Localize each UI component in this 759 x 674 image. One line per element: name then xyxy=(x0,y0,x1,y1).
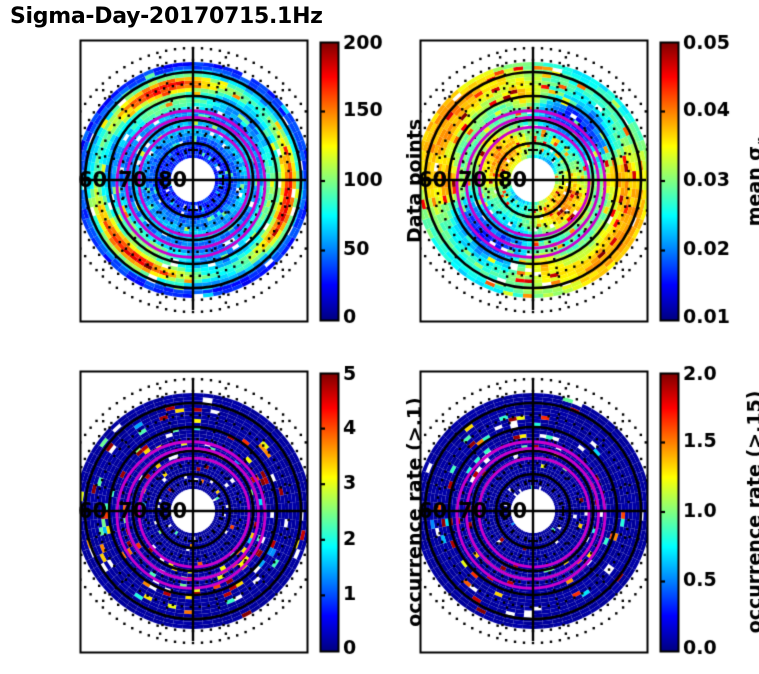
colorbar-label-occurrence-rate-gt-0.15 xyxy=(738,373,759,651)
colorbar-mean-sigma-phi[interactable] xyxy=(660,42,678,320)
colorbar-occurrence-rate-gt-0.1[interactable] xyxy=(320,373,338,651)
colorbar-label-mean-sigma-phi xyxy=(738,42,759,320)
colorbar-occurrence-rate-gt-0.15[interactable] xyxy=(660,373,678,651)
figure-canvas-container: Sigma-Day-20170715.1Hz xyxy=(0,0,759,674)
plot-occurrence-rate-gt-0.1[interactable] xyxy=(80,371,307,652)
plot-occurrence-rate-gt-0.15[interactable] xyxy=(420,371,647,652)
plot-mean-sigma-phi[interactable] xyxy=(420,40,647,321)
colorbar-data-points[interactable] xyxy=(320,42,338,320)
plot-data-points[interactable] xyxy=(80,40,307,321)
